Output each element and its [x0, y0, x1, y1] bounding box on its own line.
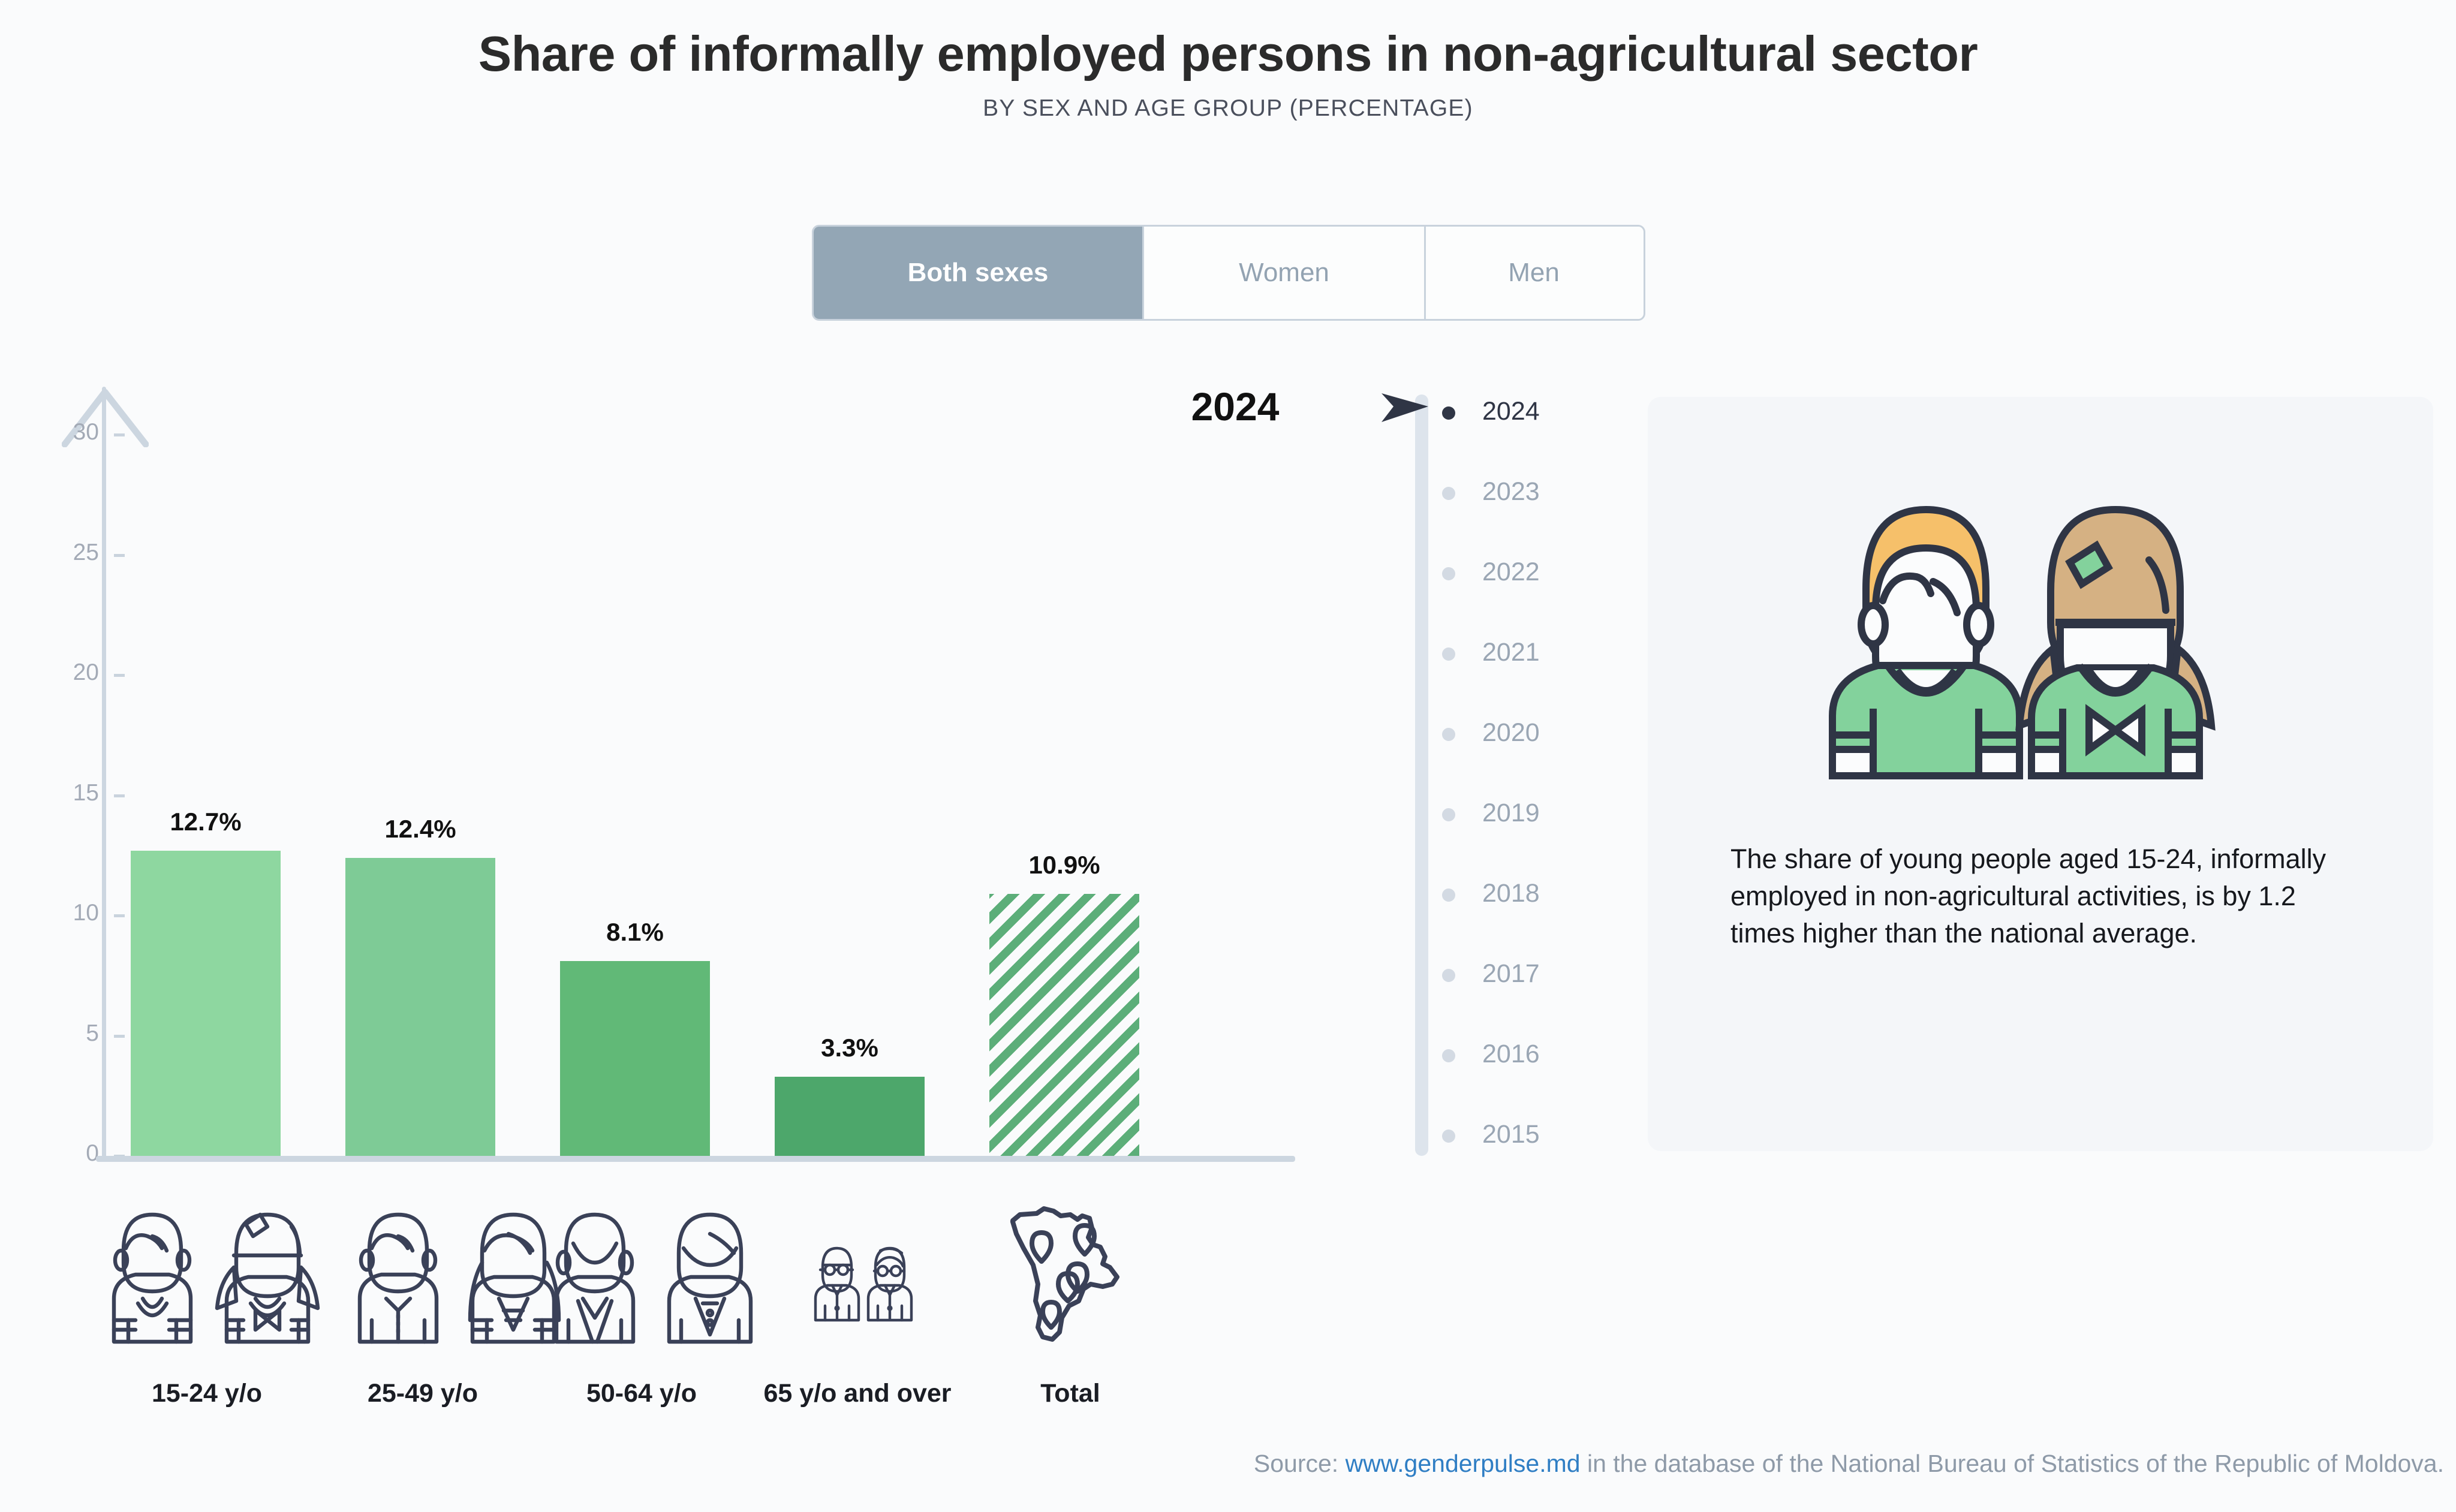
bar-value-label: 10.9% [989, 851, 1139, 880]
bar[interactable] [131, 851, 281, 1156]
x-axis-category-label: 25-49 y/o [303, 1379, 543, 1408]
timeline-year-dot[interactable] [1442, 647, 1455, 661]
timeline-rail [1415, 394, 1428, 1156]
source-prefix: Source: [1254, 1450, 1346, 1477]
page-title: Share of informally employed persons in … [0, 28, 2456, 80]
moldova-map-icon [998, 1197, 1142, 1362]
timeline-year-label[interactable]: 2019 [1482, 799, 1540, 828]
timeline-year-label[interactable]: 2020 [1482, 718, 1540, 748]
timeline-year-label[interactable]: 2022 [1482, 558, 1540, 587]
bar-value-label: 3.3% [775, 1034, 925, 1062]
bar-series: 12.7%12.4%8.1%3.3%10.9% [0, 372, 1355, 1157]
source-link[interactable]: www.genderpulse.md [1346, 1450, 1581, 1477]
tab-both-sexes[interactable]: Both sexes [814, 227, 1144, 319]
timeline-year-label[interactable]: 2017 [1482, 959, 1540, 989]
bar-value-label: 8.1% [560, 918, 710, 947]
insight-text: The share of young people aged 15-24, in… [1730, 841, 2342, 952]
timeline-year-label[interactable]: 2024 [1482, 397, 1540, 426]
timeline-year-dot[interactable] [1442, 406, 1455, 420]
timeline-pointer-icon [1380, 390, 1446, 426]
elderly-couple-icon [803, 1236, 923, 1335]
timeline-year-label[interactable]: 2018 [1482, 879, 1540, 908]
timeline-year-dot[interactable] [1442, 1130, 1455, 1143]
bar[interactable] [989, 894, 1139, 1156]
x-axis-category-label: 15-24 y/o [90, 1379, 324, 1408]
bar[interactable] [775, 1077, 925, 1156]
timeline-year-label[interactable]: 2021 [1482, 638, 1540, 667]
senior-couple-icon [540, 1200, 779, 1347]
bar[interactable] [345, 858, 495, 1156]
x-axis-category-label: 65 y/o and over [708, 1379, 1007, 1408]
bar-value-label: 12.7% [131, 808, 281, 836]
timeline-year-dot[interactable] [1442, 969, 1455, 982]
x-axis-line [96, 1156, 1295, 1162]
timeline-year-label[interactable]: 2023 [1482, 477, 1540, 507]
timeline-year-dot[interactable] [1442, 808, 1455, 821]
timeline-year-dot[interactable] [1442, 487, 1455, 500]
category-icon-row [0, 1193, 1355, 1367]
page-header: Share of informally employed persons in … [0, 0, 2456, 122]
year-timeline[interactable]: 2024202320222021202020192018201720162015 [1397, 384, 1637, 1163]
timeline-year-label[interactable]: 2015 [1482, 1120, 1540, 1149]
insight-panel: The share of young people aged 15-24, in… [1648, 397, 2433, 1151]
sex-tab-group[interactable]: Both sexes Women Men [812, 225, 1645, 321]
tab-men[interactable]: Men [1426, 227, 1642, 319]
bar[interactable] [560, 961, 710, 1156]
timeline-year-label[interactable]: 2016 [1482, 1040, 1540, 1069]
timeline-year-dot[interactable] [1442, 728, 1455, 741]
bar-chart: 051015202530 12.7%12.4%8.1%3.3%10.9% [0, 372, 1355, 1211]
bar-value-label: 12.4% [345, 815, 495, 844]
source-footer: Source: www.genderpulse.md in the databa… [0, 1450, 2456, 1478]
timeline-year-dot[interactable] [1442, 567, 1455, 580]
timeline-year-dot[interactable] [1442, 1049, 1455, 1062]
source-suffix: in the database of the National Bureau o… [1581, 1450, 2444, 1477]
category-label-row: 15-24 y/o25-49 y/o50-64 y/o65 y/o and ov… [0, 1379, 1355, 1421]
x-axis-category-label: Total [974, 1379, 1166, 1408]
tab-women[interactable]: Women [1144, 227, 1426, 319]
timeline-year-dot[interactable] [1442, 888, 1455, 902]
page-subtitle: BY SEX AND AGE GROUP (PERCENTAGE) [0, 95, 2456, 122]
boy-and-girl-illustration-icon [1804, 481, 2235, 781]
